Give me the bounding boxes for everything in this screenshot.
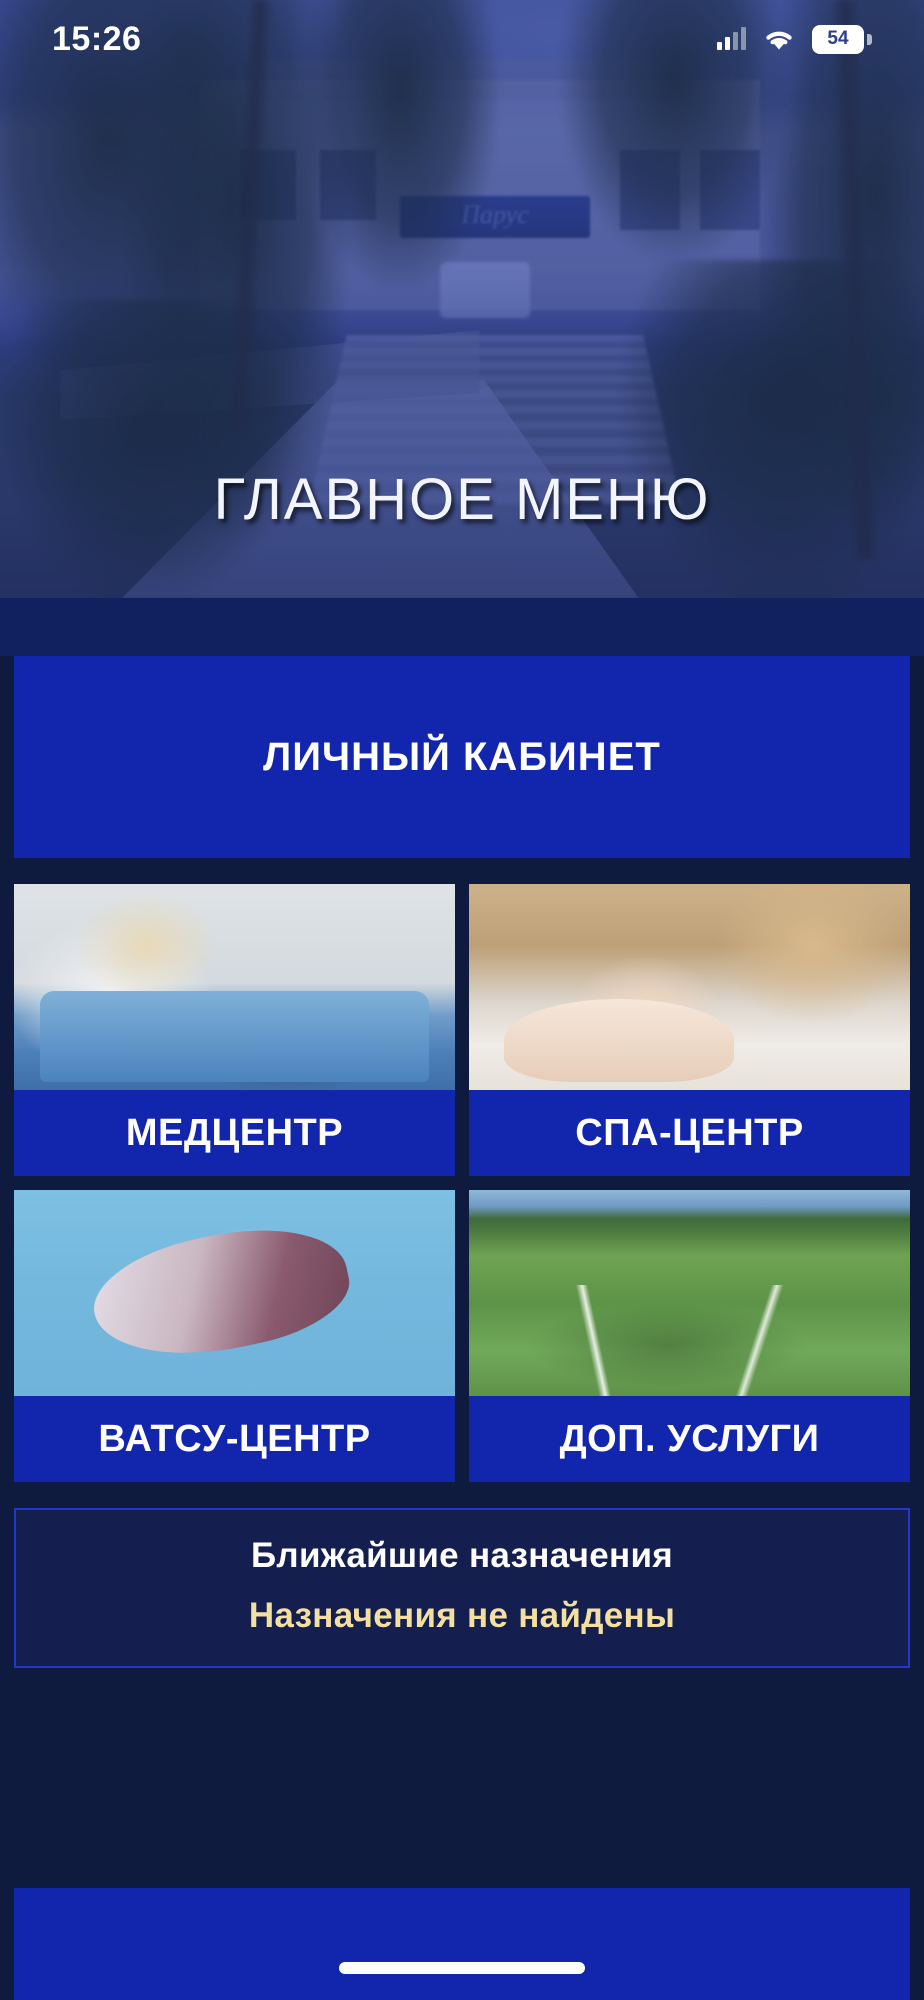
hero-header: Парус ГЛАВНОЕ МЕНЮ: [0, 0, 924, 598]
hydrotherapy-bath-photo: [14, 884, 455, 1090]
sports-field-photo: [469, 1190, 910, 1396]
status-bar-time: 15:26: [52, 20, 141, 59]
tile-medcenter-label: МЕДЦЕНТР: [14, 1090, 455, 1176]
battery-icon: 54: [812, 25, 872, 54]
tile-spa-center[interactable]: СПА-ЦЕНТР: [469, 884, 910, 1176]
medcenter-image: [14, 884, 455, 1090]
top-spacer-band: [0, 598, 924, 656]
tile-additional-services[interactable]: ДОП. УСЛУГИ: [469, 1190, 910, 1482]
cellular-signal-icon: [717, 28, 746, 50]
watsu-pool-therapy-photo: [14, 1190, 455, 1396]
appointments-title: Ближайшие назначения: [36, 1536, 888, 1576]
tile-medcenter[interactable]: МЕДЦЕНТР: [14, 884, 455, 1176]
tile-watsu-center[interactable]: ВАТСУ-ЦЕНТР: [14, 1190, 455, 1482]
battery-cap: [867, 34, 872, 45]
battery-level-text: 54: [812, 25, 864, 54]
bottom-bar: [14, 1888, 910, 2000]
facial-oil-treatment-photo: [469, 884, 910, 1090]
spacer: [0, 858, 924, 884]
tile-watsu-center-label: ВАТСУ-ЦЕНТР: [14, 1396, 455, 1482]
personal-account-button[interactable]: ЛИЧНЫЙ КАБИНЕТ: [14, 656, 910, 858]
status-bar: 15:26 54: [0, 0, 924, 78]
additional-services-image: [469, 1190, 910, 1396]
page-title: ГЛАВНОЕ МЕНЮ: [0, 466, 924, 533]
personal-account-label: ЛИЧНЫЙ КАБИНЕТ: [263, 735, 661, 780]
spa-center-image: [469, 884, 910, 1090]
menu-tile-grid: МЕДЦЕНТР СПА-ЦЕНТР ВАТСУ-ЦЕНТР ДОП. УСЛУ…: [0, 884, 924, 1482]
appointments-empty-message: Назначения не найдены: [36, 1596, 888, 1636]
tile-additional-services-label: ДОП. УСЛУГИ: [469, 1396, 910, 1482]
watsu-center-image: [14, 1190, 455, 1396]
tile-spa-center-label: СПА-ЦЕНТР: [469, 1090, 910, 1176]
main-content: ЛИЧНЫЙ КАБИНЕТ МЕДЦЕНТР СПА-ЦЕНТР ВАТСУ-…: [0, 598, 924, 1668]
status-bar-indicators: 54: [717, 25, 872, 54]
wifi-icon: [762, 26, 796, 52]
appointments-panel[interactable]: Ближайшие назначения Назначения не найде…: [14, 1508, 910, 1668]
home-indicator[interactable]: [339, 1962, 585, 1974]
